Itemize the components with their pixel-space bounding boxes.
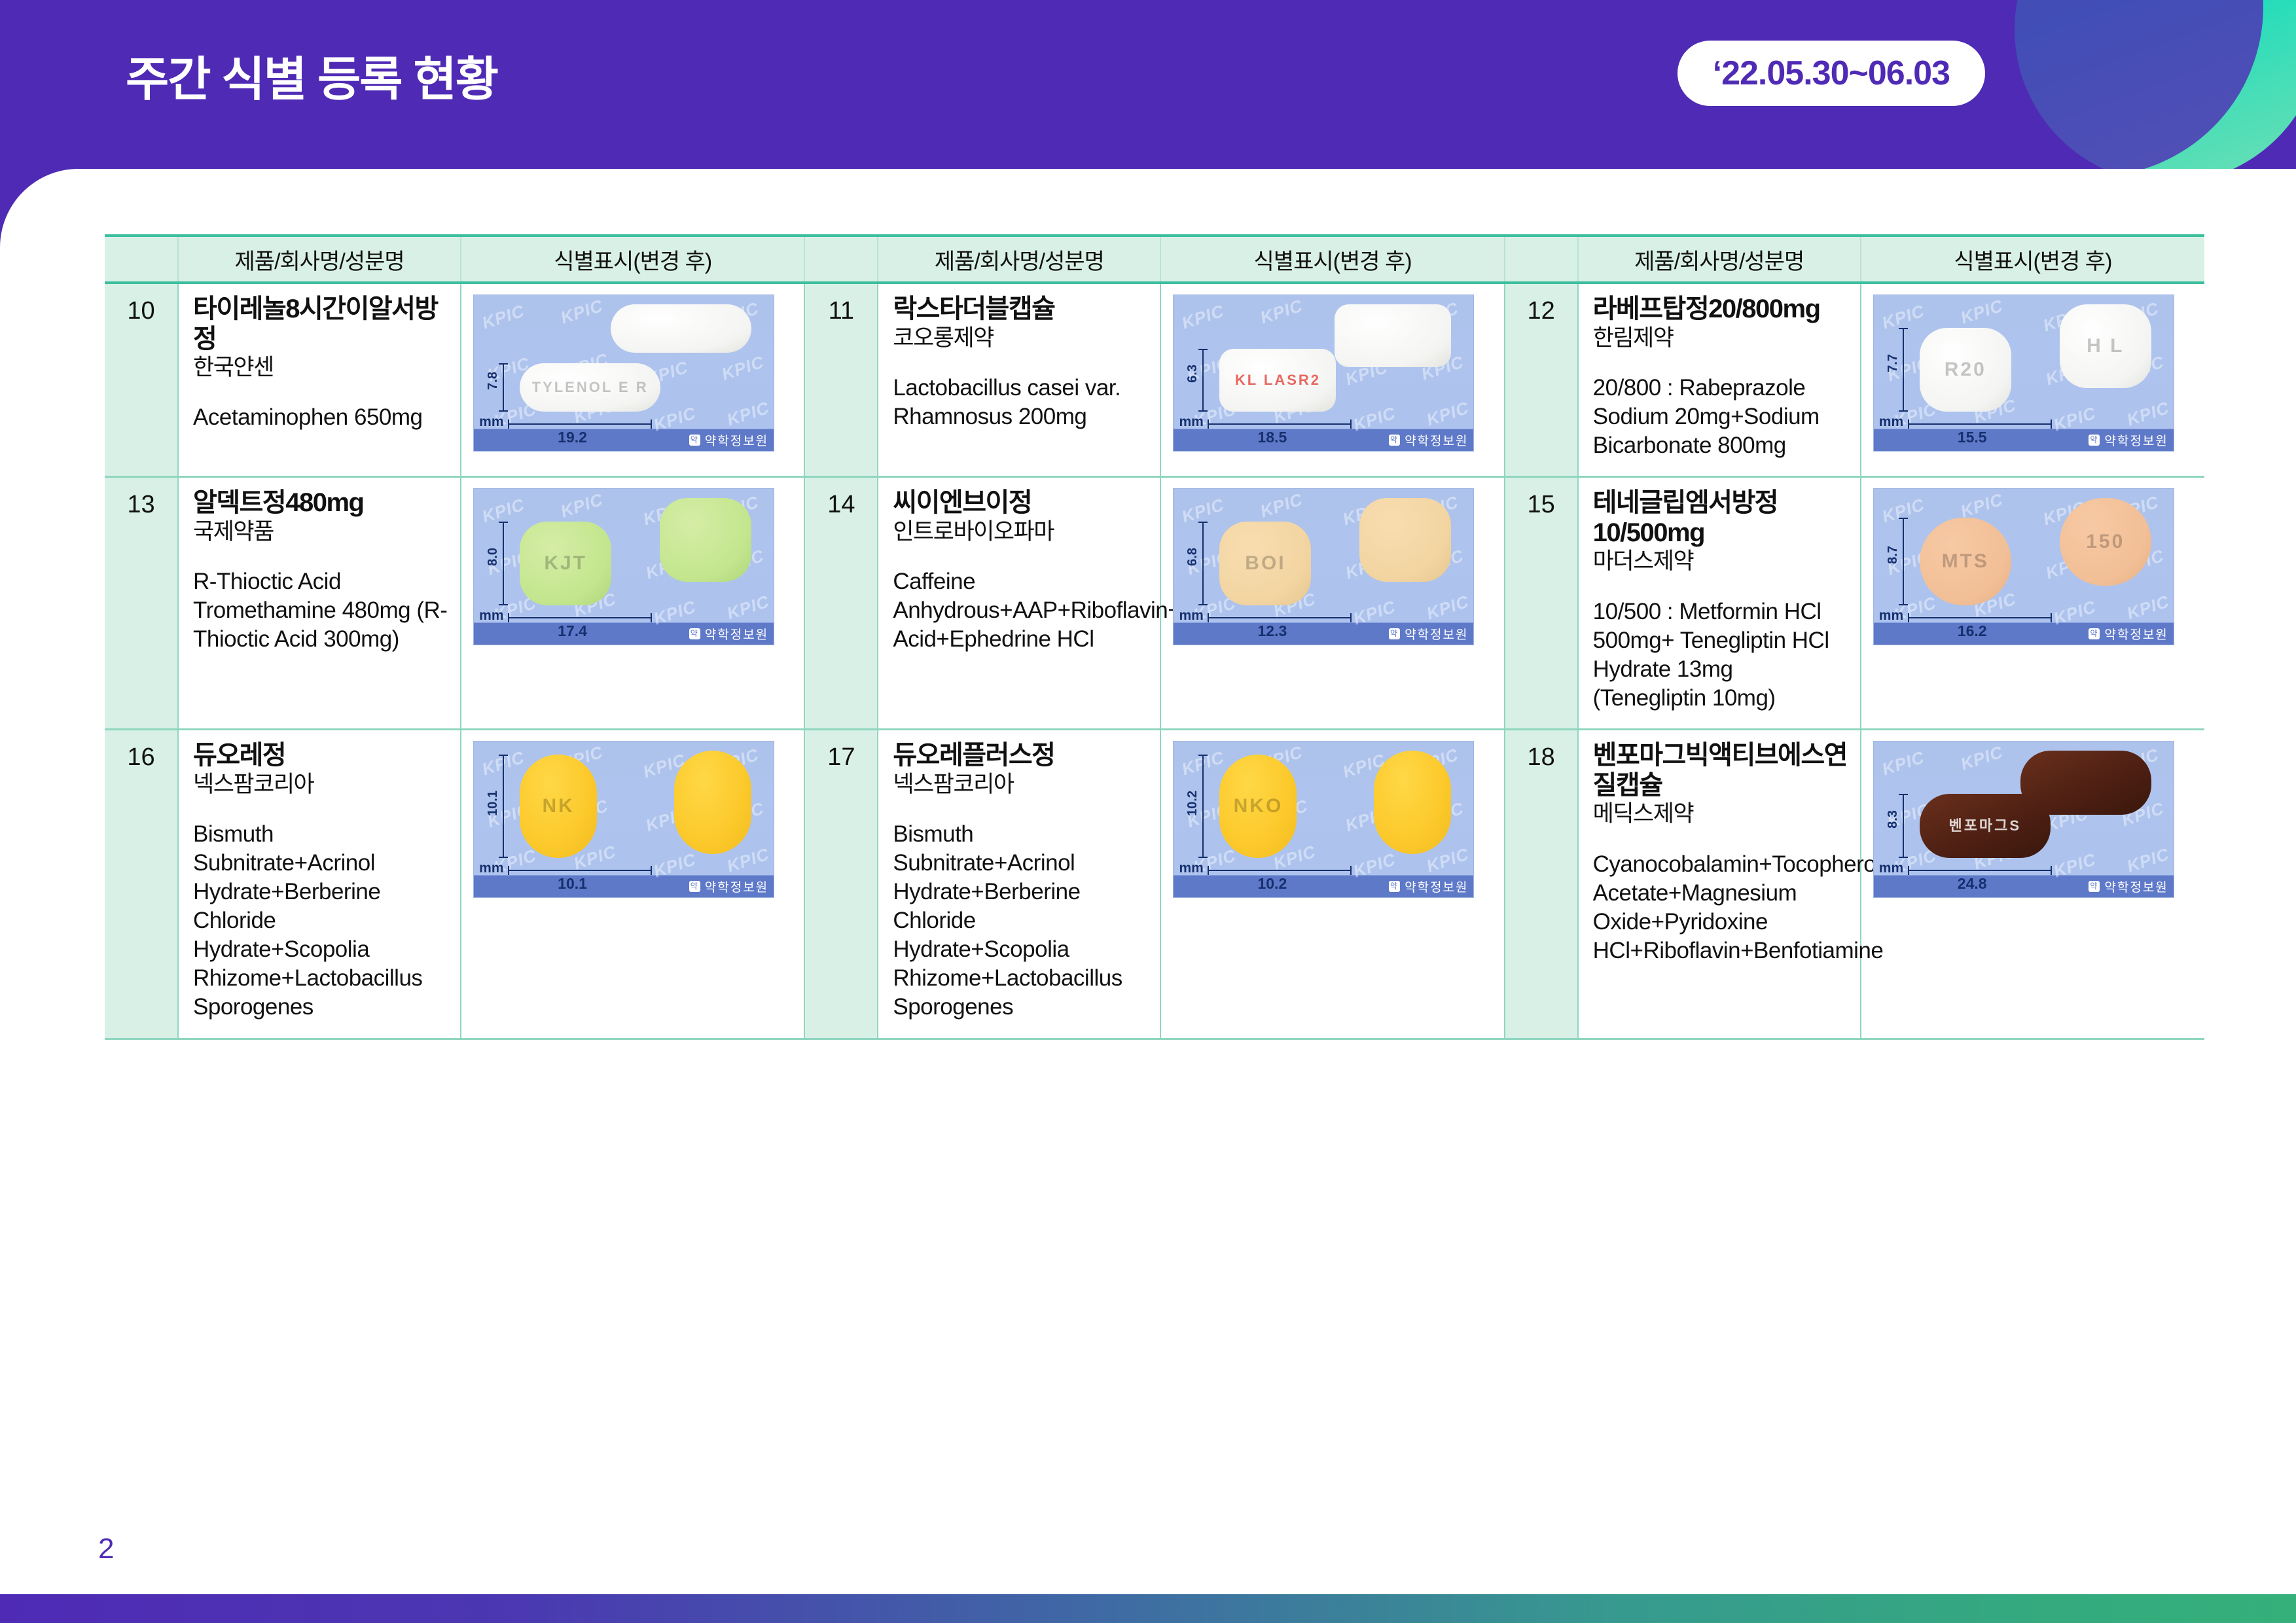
pill-back-face: H L [2060, 304, 2151, 388]
pill-photo: KPICKPICKPICKPICKPICKPICKPICKPICKPICKPIC… [473, 294, 774, 452]
company-name: 인트로바이오파마 [893, 518, 1148, 545]
product-info-cell: 알덱트정480mg국제약품R-Thioctic Acid Tromethamin… [178, 477, 461, 730]
pill-front-face: KJT [520, 522, 611, 605]
pill-photo-cell: KPICKPICKPICKPICKPICKPICKPICKPICKPICKPIC… [1160, 477, 1504, 730]
photo-source-label: 약약학정보원 [2089, 625, 2168, 643]
unit-label-mm: mm [479, 414, 503, 430]
watermark-kpic: KPIC [1958, 490, 2005, 522]
product-info-cell: 타이레놀8시간이알서방정한국얀센Acetaminophen 650mg [178, 283, 461, 477]
width-dimension-value: 17.4 [558, 622, 587, 640]
width-dimension-value: 10.1 [558, 875, 587, 893]
header-blank-3 [1505, 236, 1578, 283]
width-dimension-value: 24.8 [1958, 875, 1987, 893]
source-text: 약학정보원 [2104, 878, 2168, 895]
source-text: 약학정보원 [2104, 431, 2168, 449]
watermark-kpic: KPIC [480, 301, 527, 334]
height-dimension-value: 6.3 [1185, 365, 1200, 383]
company-name: 넥스팜코리아 [193, 771, 448, 798]
product-info-cell: 락스타더블캡슐코오롱제약Lactobacillus casei var. Rha… [878, 283, 1160, 477]
table-row: 10타이레놀8시간이알서방정한국얀센Acetaminophen 650mgKPI… [105, 283, 2204, 477]
pill-front-face: BOI [1219, 522, 1311, 605]
width-dimension-value: 15.5 [1958, 429, 1987, 446]
company-name: 한림제약 [1593, 325, 1848, 351]
unit-label-mm: mm [1179, 414, 1203, 430]
pill-photo-cell: KPICKPICKPICKPICKPICKPICKPICKPICKPICKPIC… [461, 730, 804, 1039]
date-range-badge: ‘22.05.30~06.03 [1677, 41, 1985, 106]
row-index-cell: 12 [1505, 283, 1578, 477]
table-body: 10타이레놀8시간이알서방정한국얀센Acetaminophen 650mgKPI… [105, 283, 2204, 1039]
row-index-cell: 16 [105, 730, 178, 1039]
watermark-kpic: KPIC [725, 592, 772, 624]
watermark-kpic: KPIC [1258, 490, 1305, 522]
source-badge-icon: 약 [689, 628, 700, 639]
watermark-kpic: KPIC [651, 403, 698, 436]
pill-photo-cell: KPICKPICKPICKPICKPICKPICKPICKPICKPICKPIC… [461, 283, 804, 477]
registration-table-wrapper: 제품/회사명/성분명 식별표시(변경 후) 제품/회사명/성분명 식별표시(변경… [105, 234, 2204, 1040]
height-dimension-line [1202, 349, 1204, 412]
height-dimension-value: 10.1 [486, 791, 501, 816]
source-badge-icon: 약 [2089, 435, 2100, 446]
header-mark-1: 식별표시(변경 후) [461, 236, 804, 283]
product-info-cell: 벤포마그빅액티브에스연질캡슐메딕스제약Cyanocobalamin+Tocoph… [1578, 730, 1861, 1039]
watermark-kpic: KPIC [1958, 742, 2005, 775]
pill-back-face: 150 [2060, 498, 2151, 586]
footer-gradient-bar [0, 1594, 2296, 1623]
width-dimension-line [1208, 617, 1352, 618]
height-dimension-value: 8.7 [1886, 546, 1901, 564]
height-dimension-line [503, 755, 504, 858]
width-dimension-value: 12.3 [1257, 622, 1287, 640]
source-badge-icon: 약 [689, 435, 700, 446]
photo-source-label: 약약학정보원 [2089, 431, 2168, 449]
company-name: 넥스팜코리아 [893, 771, 1148, 798]
watermark-kpic: KPIC [1258, 296, 1305, 329]
product-name: 씨이엔브이정 [893, 488, 1148, 518]
pill-front-face: TYLENOL E R [520, 363, 660, 412]
source-badge-icon: 약 [1389, 435, 1400, 446]
source-badge-icon: 약 [1389, 628, 1400, 639]
table-header-row: 제품/회사명/성분명 식별표시(변경 후) 제품/회사명/성분명 식별표시(변경… [105, 236, 2204, 283]
watermark-kpic: KPIC [2051, 403, 2098, 436]
row-index-cell: 18 [1505, 730, 1578, 1039]
ingredient-text: Acetaminophen 650mg [193, 403, 448, 432]
photo-source-label: 약약학정보원 [689, 431, 768, 449]
company-name: 마더스제약 [1593, 548, 1848, 575]
height-dimension-value: 8.0 [486, 548, 501, 566]
ingredient-text: Lactobacillus casei var. Rhamnosus 200mg [893, 374, 1148, 431]
width-dimension-line [1208, 423, 1352, 425]
width-dimension-value: 10.2 [1257, 875, 1287, 893]
pill-back-face [1335, 304, 1451, 367]
photo-source-label: 약약학정보원 [1389, 431, 1468, 449]
watermark-kpic: KPIC [1424, 398, 1471, 431]
source-text: 약학정보원 [1405, 625, 1468, 643]
watermark-kpic: KPIC [1351, 849, 1398, 882]
photo-source-label: 약약학정보원 [2089, 878, 2168, 895]
product-name: 듀오레정 [193, 741, 448, 771]
table-head: 제품/회사명/성분명 식별표시(변경 후) 제품/회사명/성분명 식별표시(변경… [105, 236, 2204, 283]
page-number: 2 [98, 1533, 114, 1565]
company-name: 국제약품 [193, 518, 448, 545]
row-index-cell: 13 [105, 477, 178, 730]
ingredient-text: Caffeine Anhydrous+AAP+Riboflavin+Ascorb… [893, 567, 1148, 654]
product-name: 벤포마그빅액티브에스연질캡슐 [1593, 741, 1848, 800]
pill-photo: KPICKPICKPICKPICKPICKPICKPICKPICKPICKPIC… [473, 741, 774, 898]
product-info-cell: 라베프탑정20/800mg한림제약20/800 : Rabeprazole So… [1578, 283, 1861, 477]
pill-back-face [1374, 751, 1451, 854]
watermark-kpic: KPIC [651, 849, 698, 882]
pill-photo: KPICKPICKPICKPICKPICKPICKPICKPICKPICKPIC… [1873, 488, 2174, 645]
height-dimension-value: 8.3 [1886, 810, 1901, 829]
photo-source-label: 약약학정보원 [1389, 625, 1468, 643]
source-text: 약학정보원 [1405, 431, 1468, 449]
height-dimension-value: 7.8 [486, 372, 501, 390]
source-text: 약학정보원 [2104, 625, 2168, 643]
company-name: 한국얀센 [193, 354, 448, 381]
width-dimension-line [1208, 870, 1352, 871]
watermark-kpic: KPIC [1958, 296, 2005, 329]
product-name: 듀오레플러스정 [893, 741, 1148, 771]
ingredient-text: Bismuth Subnitrate+Acrinol Hydrate+Berbe… [193, 820, 448, 1022]
height-dimension-value: 7.7 [1886, 354, 1901, 372]
product-info-cell: 듀오레정넥스팜코리아Bismuth Subnitrate+Acrinol Hyd… [178, 730, 461, 1039]
unit-label-mm: mm [1179, 608, 1203, 624]
watermark-kpic: KPIC [1351, 597, 1398, 630]
pill-photo-cell: KPICKPICKPICKPICKPICKPICKPICKPICKPICKPIC… [1861, 477, 2204, 730]
width-dimension-line [1908, 617, 2052, 618]
watermark-kpic: KPIC [1179, 301, 1227, 334]
row-index-cell: 11 [804, 283, 878, 477]
product-name: 락스타더블캡슐 [893, 294, 1148, 325]
pill-front-face: NKO [1219, 755, 1297, 858]
source-text: 약학정보원 [705, 878, 768, 895]
pill-front-face: R20 [1920, 328, 2011, 412]
width-dimension-line [1908, 423, 2052, 425]
header-product-2: 제품/회사명/성분명 [878, 236, 1160, 283]
ingredient-text: R-Thioctic Acid Tromethamine 480mg (R-Th… [193, 567, 448, 654]
watermark-kpic: KPIC [725, 398, 772, 431]
watermark-kpic: KPIC [2051, 597, 2098, 630]
header-mark-3: 식별표시(변경 후) [1861, 236, 2204, 283]
unit-label-mm: mm [1179, 861, 1203, 876]
product-name: 라베프탑정20/800mg [1593, 294, 1848, 325]
width-dimension-line [1908, 870, 2052, 871]
product-info-cell: 테네글립엠서방정 10/500mg마더스제약10/500 : Metformin… [1578, 477, 1861, 730]
ingredient-text: 10/500 : Metformin HCl 500mg+ Teneglipti… [1593, 597, 1848, 713]
header-blank-2 [804, 236, 878, 283]
product-name: 타이레놀8시간이알서방정 [193, 294, 448, 354]
row-index-cell: 14 [804, 477, 878, 730]
source-badge-icon: 약 [689, 881, 700, 892]
source-text: 약학정보원 [705, 431, 768, 449]
product-info-cell: 씨이엔브이정인트로바이오파마Caffeine Anhydrous+AAP+Rib… [878, 477, 1160, 730]
pill-photo: KPICKPICKPICKPICKPICKPICKPICKPICKPICKPIC… [1173, 294, 1474, 452]
table-row: 16듀오레정넥스팜코리아Bismuth Subnitrate+Acrinol H… [105, 730, 2204, 1039]
watermark-kpic: KPIC [2125, 592, 2172, 624]
source-text: 약학정보원 [1405, 878, 1468, 895]
row-index-cell: 15 [1505, 477, 1578, 730]
pill-photo: KPICKPICKPICKPICKPICKPICKPICKPICKPICKPIC… [1873, 741, 2174, 898]
watermark-kpic: KPIC [651, 597, 698, 630]
height-dimension-value: 6.8 [1185, 548, 1200, 566]
header-blank-1 [105, 236, 178, 283]
pill-photo: KPICKPICKPICKPICKPICKPICKPICKPICKPICKPIC… [473, 488, 774, 645]
height-dimension-line [1903, 518, 1904, 605]
source-badge-icon: 약 [1389, 881, 1400, 892]
pill-photo: KPICKPICKPICKPICKPICKPICKPICKPICKPICKPIC… [1873, 294, 2174, 452]
watermark-kpic: KPIC [2051, 849, 2098, 882]
product-name: 테네글립엠서방정 10/500mg [1593, 488, 1848, 548]
height-dimension-line [1202, 522, 1204, 605]
height-dimension-value: 10.2 [1185, 791, 1200, 816]
page-title: 주간 식별 등록 현황 [126, 41, 497, 109]
pill-back-face [611, 304, 751, 353]
pill-front-face: MTS [1920, 518, 2011, 605]
ingredient-text: Bismuth Subnitrate+Acrinol Hydrate+Berbe… [893, 820, 1148, 1022]
pill-photo-cell: KPICKPICKPICKPICKPICKPICKPICKPICKPICKPIC… [1160, 283, 1504, 477]
row-index-cell: 10 [105, 283, 178, 477]
slide-page: 주간 식별 등록 현황 ‘22.05.30~06.03 제품/회사명/성분명 식… [0, 0, 2296, 1623]
company-name: 코오롱제약 [893, 325, 1148, 351]
pill-photo-cell: KPICKPICKPICKPICKPICKPICKPICKPICKPICKPIC… [461, 477, 804, 730]
width-dimension-line [508, 423, 652, 425]
height-dimension-line [1903, 328, 1904, 412]
row-index-cell: 17 [804, 730, 878, 1039]
pill-photo-cell: KPICKPICKPICKPICKPICKPICKPICKPICKPICKPIC… [1861, 730, 2204, 1039]
pill-photo-cell: KPICKPICKPICKPICKPICKPICKPICKPICKPICKPIC… [1160, 730, 1504, 1039]
ingredient-text: Cyanocobalamin+Tocopherol Acetate+Magnes… [1593, 850, 1848, 965]
pill-photo: KPICKPICKPICKPICKPICKPICKPICKPICKPICKPIC… [1173, 741, 1474, 898]
photo-source-label: 약약학정보원 [1389, 878, 1468, 895]
product-name: 알덱트정480mg [193, 488, 448, 518]
unit-label-mm: mm [1879, 414, 1903, 430]
photo-source-label: 약약학정보원 [689, 878, 768, 895]
unit-label-mm: mm [1879, 608, 1903, 624]
width-dimension-line [508, 617, 652, 618]
header-mark-2: 식별표시(변경 후) [1160, 236, 1504, 283]
company-name: 메딕스제약 [1593, 800, 1848, 827]
pill-front-face: NK [520, 755, 597, 858]
watermark-kpic: KPIC [719, 352, 766, 385]
width-dimension-value: 18.5 [1257, 429, 1287, 446]
ingredient-text: 20/800 : Rabeprazole Sodium 20mg+Sodium … [1593, 374, 1848, 460]
table-row: 13알덱트정480mg국제약품R-Thioctic Acid Trometham… [105, 477, 2204, 730]
product-info-cell: 듀오레플러스정넥스팜코리아Bismuth Subnitrate+Acrinol … [878, 730, 1160, 1039]
watermark-kpic: KPIC [1351, 403, 1398, 436]
watermark-kpic: KPIC [558, 296, 605, 329]
photo-source-label: 약약학정보원 [689, 625, 768, 643]
source-text: 약학정보원 [705, 625, 768, 643]
header-product-3: 제품/회사명/성분명 [1578, 236, 1861, 283]
height-dimension-line [503, 522, 504, 605]
pill-front-face: KL LASR2 [1219, 349, 1336, 412]
watermark-kpic: KPIC [1424, 592, 1471, 624]
pill-back-face [674, 751, 751, 854]
height-dimension-line [1903, 794, 1904, 858]
source-badge-icon: 약 [2089, 881, 2100, 892]
watermark-kpic: KPIC [1880, 747, 1927, 780]
height-dimension-line [1202, 755, 1204, 858]
unit-label-mm: mm [1879, 861, 1903, 876]
pill-photo-cell: KPICKPICKPICKPICKPICKPICKPICKPICKPICKPIC… [1861, 283, 2204, 477]
pill-front-face: 벤포마그S [1920, 794, 2051, 858]
width-dimension-value: 19.2 [558, 429, 587, 446]
header-product-1: 제품/회사명/성분명 [178, 236, 461, 283]
height-dimension-line [503, 363, 504, 412]
unit-label-mm: mm [479, 608, 503, 624]
width-dimension-line [508, 870, 652, 871]
width-dimension-value: 16.2 [1958, 622, 1987, 640]
pill-photo: KPICKPICKPICKPICKPICKPICKPICKPICKPICKPIC… [1173, 488, 1474, 645]
source-badge-icon: 약 [2089, 628, 2100, 639]
watermark-kpic: KPIC [558, 490, 605, 522]
pill-back-face [660, 498, 751, 582]
pill-back-face [1359, 498, 1451, 582]
watermark-kpic: KPIC [2125, 844, 2172, 877]
unit-label-mm: mm [479, 861, 503, 876]
watermark-kpic: KPIC [2125, 398, 2172, 431]
registration-table: 제품/회사명/성분명 식별표시(변경 후) 제품/회사명/성분명 식별표시(변경… [105, 234, 2204, 1040]
